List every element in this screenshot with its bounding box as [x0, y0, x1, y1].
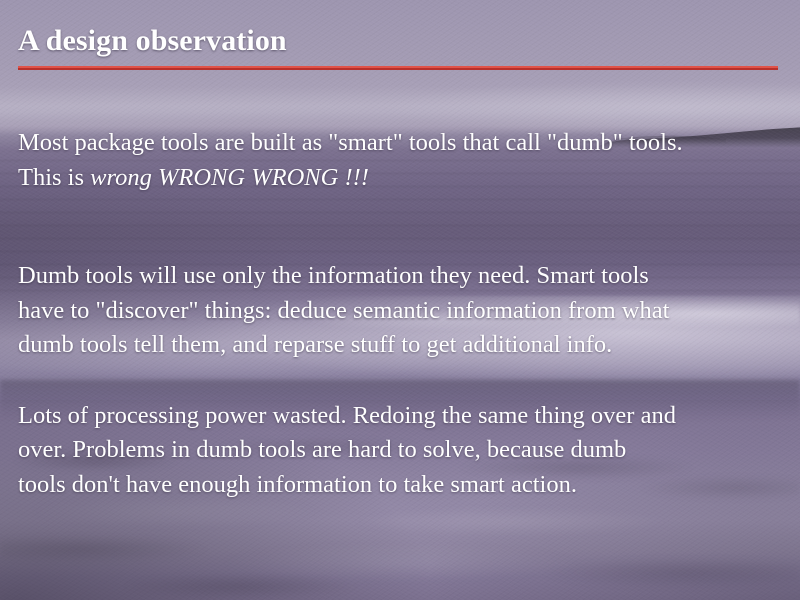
slide-content: A design observation Most package tools …	[0, 0, 800, 600]
body-text: Dumb tools will use only the information…	[18, 262, 649, 289]
body-line: Dumb tools will use only the information…	[18, 259, 786, 294]
body-line: Most package tools are built as "smart" …	[18, 126, 786, 161]
body-line: This is wrong WRONG WRONG !!!	[18, 161, 786, 196]
body-paragraph: Dumb tools will use only the information…	[18, 259, 786, 363]
body-text: over. Problems in dumb tools are hard to…	[18, 436, 626, 463]
paragraph-spacer	[18, 195, 786, 259]
slide-body: Most package tools are built as "smart" …	[18, 126, 786, 502]
body-text: Most package tools are built as "smart" …	[18, 129, 683, 156]
body-text-emphasis: wrong WRONG WRONG !!!	[90, 164, 369, 191]
body-line: dumb tools tell them, and reparse stuff …	[18, 328, 786, 363]
body-text: dumb tools tell them, and reparse stuff …	[18, 331, 612, 358]
body-paragraph: Lots of processing power wasted. Redoing…	[18, 399, 786, 503]
body-text: tools don't have enough information to t…	[18, 471, 577, 498]
body-line: have to "discover" things: deduce semant…	[18, 294, 786, 329]
body-paragraph: Most package tools are built as "smart" …	[18, 126, 786, 195]
paragraph-spacer	[18, 363, 786, 399]
title-underline-rule	[18, 66, 778, 70]
presentation-slide: A design observation Most package tools …	[0, 0, 800, 600]
body-line: over. Problems in dumb tools are hard to…	[18, 433, 786, 468]
body-text: Lots of processing power wasted. Redoing…	[18, 402, 676, 429]
body-text: have to "discover" things: deduce semant…	[18, 297, 669, 324]
body-text: This is	[18, 164, 90, 191]
slide-title: A design observation	[18, 24, 287, 58]
body-line: tools don't have enough information to t…	[18, 468, 786, 503]
body-line: Lots of processing power wasted. Redoing…	[18, 399, 786, 434]
